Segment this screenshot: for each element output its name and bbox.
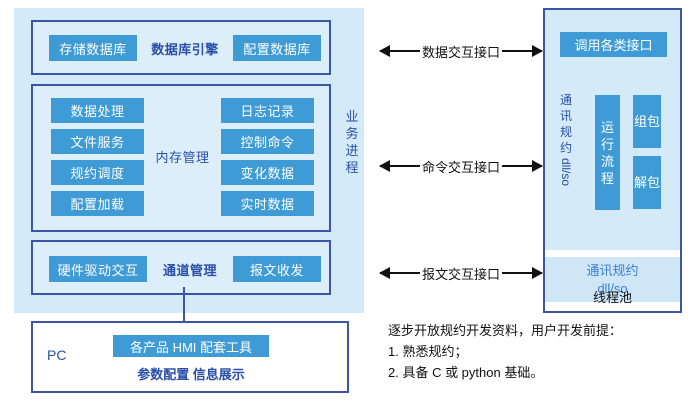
chip-file-service[interactable]: 文件服务 [51,129,144,154]
note-line-1: 逐步开放规约开发资料，用户开发前提： [388,320,688,341]
interface-arrow-data: 数据交互接口 [380,40,542,62]
label-data-interface: 数据交互接口 [420,42,502,61]
chip-realtime-data[interactable]: 实时数据 [221,191,314,216]
chip-change-data[interactable]: 变化数据 [221,160,314,185]
chip-storage-database[interactable]: 存储数据库 [49,35,137,61]
arrow-left-icon [380,272,420,274]
chip-data-processing[interactable]: 数据处理 [51,98,144,123]
label-database-engine: 数据库引擎 [141,35,229,61]
chip-packetize[interactable]: 组包 [633,95,661,148]
chip-run-flow[interactable]: 运行流程 [595,95,620,210]
label-pc-subtitle: 参数配置 信息展示 [113,363,269,383]
label-pc: PC [47,347,87,363]
database-layer-group: 存储数据库 数据库引擎 配置数据库 [31,20,331,75]
chip-config-loading[interactable]: 配置加载 [51,191,144,216]
interface-arrow-command: 命令交互接口 [380,155,542,177]
pc-box: PC 各产品 HMI 配套工具 参数配置 信息展示 [31,321,349,393]
note-line-3: 2. 具备 C 或 python 基础。 [388,362,688,383]
chip-hmi-toolkit[interactable]: 各产品 HMI 配套工具 [113,335,269,357]
label-memory-management: 内存管理 [144,144,221,169]
arrow-right-icon [502,165,542,167]
label-message-interface: 报文交互接口 [420,264,502,283]
hardware-layer-group: 硬件驱动交互 通道管理 报文收发 [31,240,331,295]
arrow-right-icon [502,50,542,52]
chip-control-command[interactable]: 控制命令 [221,129,314,154]
connector-line-hardware-to-pc [183,287,185,321]
chip-log-record[interactable]: 日志记录 [221,98,314,123]
chip-config-database[interactable]: 配置数据库 [233,35,321,61]
label-business-process-vertical: 业务进程 [341,108,363,176]
label-protocol-vertical-text: 通讯规约 [560,93,572,155]
arrow-left-icon [380,165,420,167]
chip-call-interfaces[interactable]: 调用各类接口 [560,32,667,57]
arrow-right-icon [502,272,542,274]
business-process-panel: 存储数据库 数据库引擎 配置数据库 数据处理 文件服务 规约调度 配置加载 内存… [14,8,364,313]
chip-depacketize[interactable]: 解包 [633,156,661,209]
chip-hardware-driver-interaction[interactable]: 硬件驱动交互 [49,256,147,282]
label-command-interface: 命令交互接口 [420,157,502,176]
label-protocol-vertical-suffix: dll/so [558,158,574,178]
label-thread-pool: 线程池 [545,265,680,309]
footer-notes: 逐步开放规约开发资料，用户开发前提： 1. 熟悉规约； 2. 具备 C 或 py… [388,320,688,383]
label-protocol-dll-vertical: 通讯规约 dll/so [556,92,576,176]
chip-protocol-scheduling[interactable]: 规约调度 [51,160,144,185]
chip-message-send-receive[interactable]: 报文收发 [233,256,321,282]
label-channel-management: 通道管理 [149,256,231,282]
arrow-left-icon [380,50,420,52]
protocol-library-panel: 调用各类接口 通讯规约 dll/so 运行流程 组包 解包 通讯规约 dll/s… [543,8,682,313]
memory-management-group: 数据处理 文件服务 规约调度 配置加载 内存管理 日志记录 控制命令 变化数据 … [31,84,331,232]
note-line-2: 1. 熟悉规约； [388,341,688,362]
interface-arrow-message: 报文交互接口 [380,262,542,284]
